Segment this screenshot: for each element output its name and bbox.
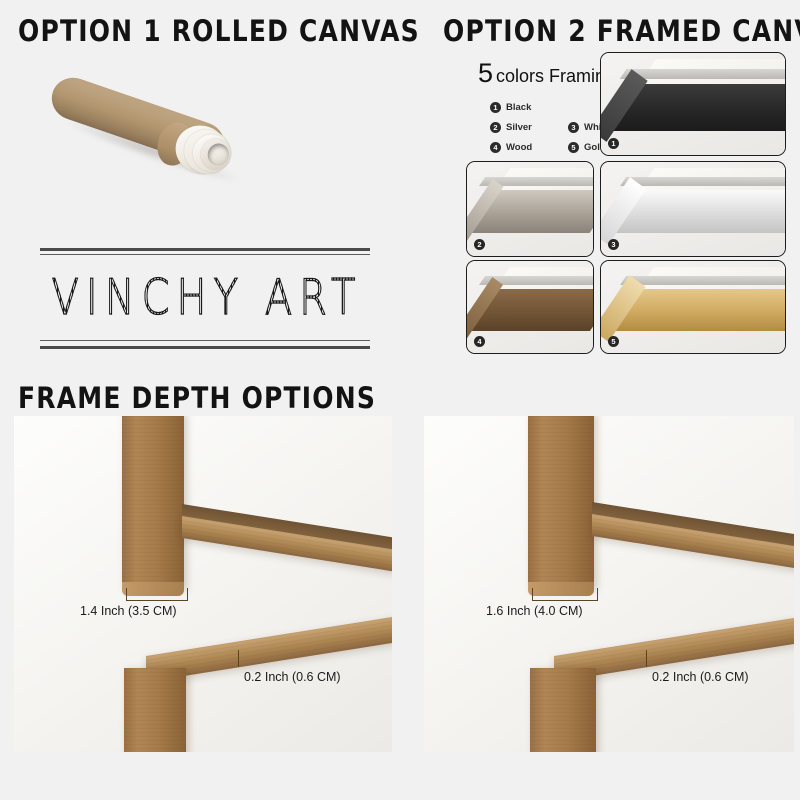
frame-swatch-gold[interactable]: 5 (600, 260, 786, 354)
logo-rule-bottom-thin (40, 340, 370, 341)
frame-depth-photo-right: 1.6 Inch (4.0 CM) 0.2 Inch (0.6 CM) (424, 416, 794, 752)
framing-panel: 5colors Framing 1 Black 2 Silver 3 White (466, 52, 784, 352)
framing-heading: 5colors Framing (478, 58, 615, 89)
depth-dimension-left: 1.4 Inch (3.5 CM) (80, 604, 177, 618)
legend-badge-4: 4 (490, 142, 501, 153)
frame-swatch-badge-2: 2 (474, 239, 485, 250)
frame-swatch-badge-1: 1 (608, 138, 619, 149)
legend-badge-1: 1 (490, 102, 501, 113)
legend-label-silver: Silver (506, 122, 532, 133)
frame-swatch-badge-5: 5 (608, 336, 619, 347)
option1-title: OPTION 1 ROLLED CANVAS (18, 14, 420, 48)
legend-item-black[interactable]: 1 Black (490, 102, 552, 113)
legend-item-silver[interactable]: 2 Silver (490, 122, 552, 133)
legend-item-wood[interactable]: 4 Wood (490, 142, 552, 153)
logo-rule-top-thin (40, 254, 370, 255)
framing-count: 5 (478, 58, 493, 88)
thickness-dimension-left: 0.2 Inch (0.6 CM) (244, 670, 341, 684)
legend-badge-2: 2 (490, 122, 501, 133)
frame-depth-title: FRAME DEPTH OPTIONS (18, 381, 376, 415)
depth-dimension-right: 1.6 Inch (4.0 CM) (486, 604, 583, 618)
frame-swatch-black[interactable]: 1 (600, 52, 786, 156)
legend-label-wood: Wood (506, 142, 532, 153)
logo-rule-top-thick (40, 248, 370, 251)
frame-swatch-badge-4: 4 (474, 336, 485, 347)
frame-swatch-white[interactable]: 3 (600, 161, 786, 257)
legend-label-black: Black (506, 102, 531, 113)
thickness-dimension-right: 0.2 Inch (0.6 CM) (652, 670, 749, 684)
option2-title: OPTION 2 FRAMED CANVAS (443, 14, 800, 48)
frame-swatch-silver[interactable]: 2 (466, 161, 594, 257)
legend-badge-3: 3 (568, 122, 579, 133)
brand-logo: VINCHY ART (40, 248, 370, 352)
legend-badge-5: 5 (568, 142, 579, 153)
rolled-canvas-tube-icon (40, 70, 270, 185)
brand-name: VINCHY ART (42, 270, 372, 326)
frame-swatch-badge-3: 3 (608, 239, 619, 250)
infographic-stage: OPTION 1 ROLLED CANVAS VINCHY ART OPTION… (0, 0, 800, 800)
frame-depth-photo-left: 1.4 Inch (3.5 CM) 0.2 Inch (0.6 CM) (14, 416, 392, 752)
frame-swatch-wood[interactable]: 4 (466, 260, 594, 354)
framing-heading-label: colors Framing (496, 66, 615, 86)
logo-rule-bottom-thick (40, 346, 370, 349)
